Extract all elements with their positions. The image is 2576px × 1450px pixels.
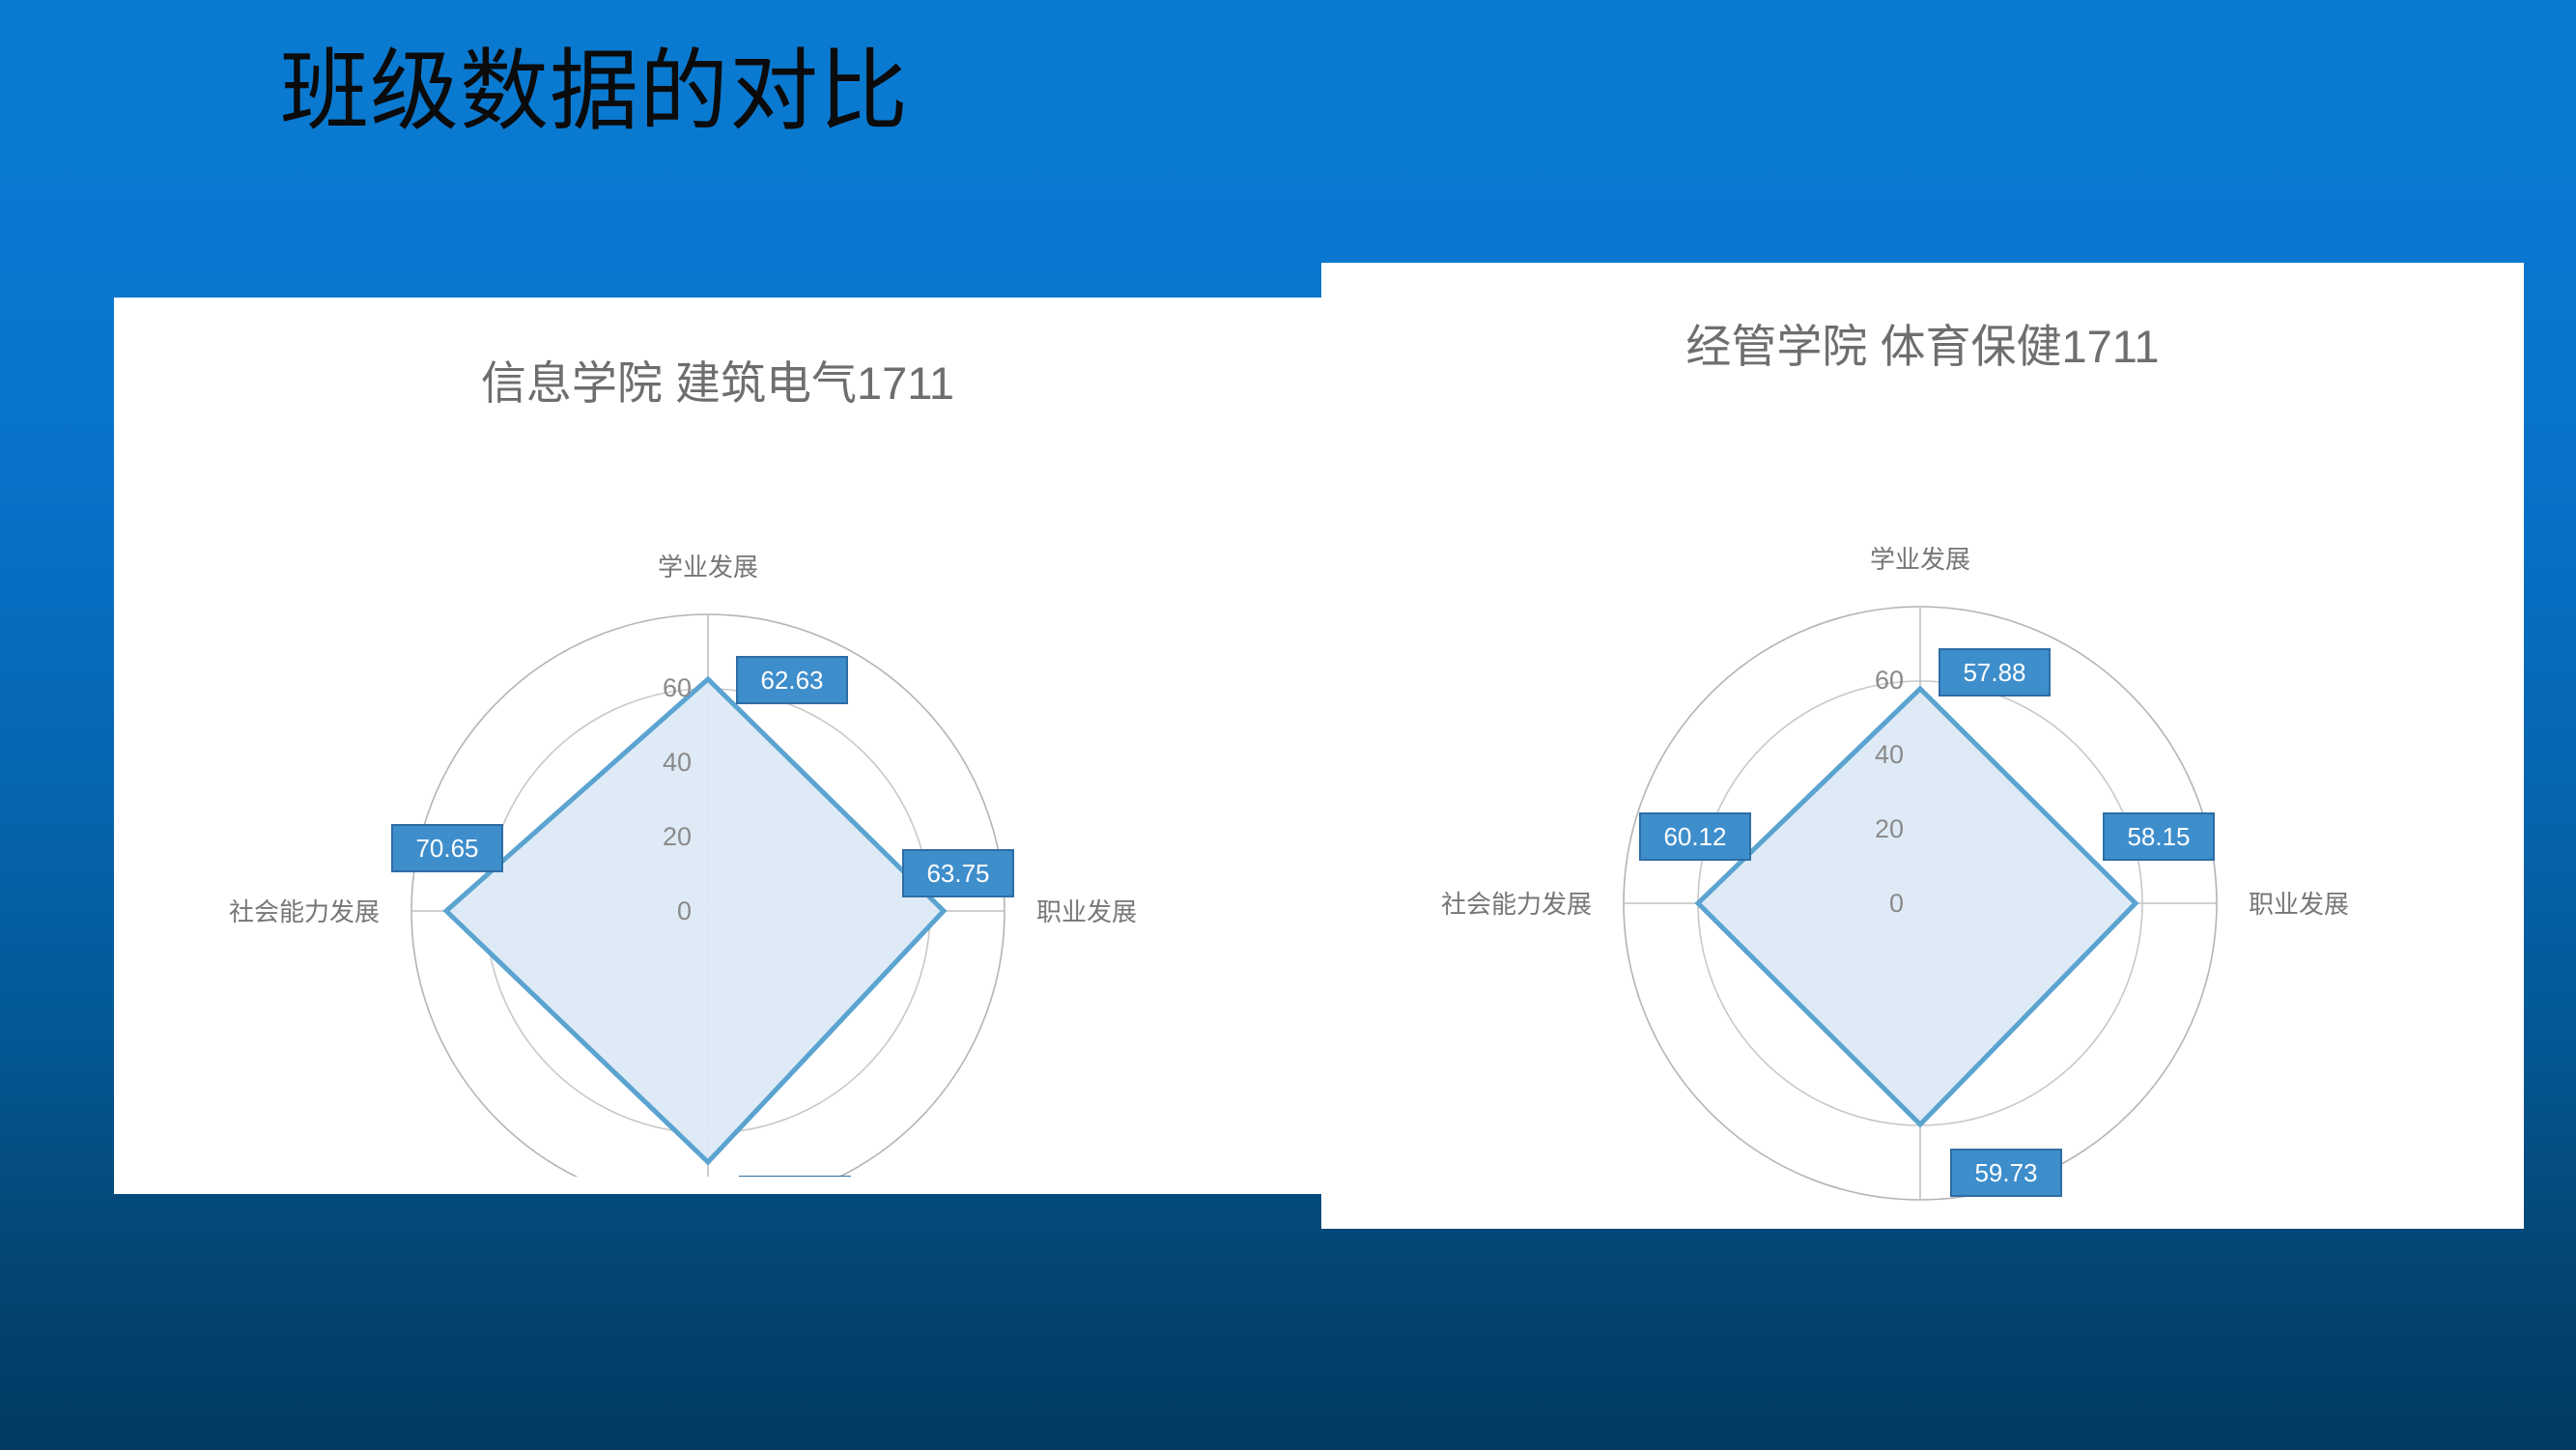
page-title: 班级数据的对比 (280, 43, 909, 141)
data-label-left: 70.65 (392, 825, 502, 871)
data-label-right-text: 58.15 (2127, 822, 2190, 851)
radar-chart-left[interactable]: 60 40 20 0 学业发展 职业发展 个人发展 社会能力发展 62.63 6… (114, 413, 1321, 1177)
axis-label-top: 学业发展 (1870, 545, 1970, 574)
axis-label-right: 职业发展 (2249, 890, 2349, 919)
series-polygon (446, 679, 944, 1162)
data-label-bottom-text: 59.73 (1974, 1158, 2037, 1187)
axis-label-top: 学业发展 (658, 553, 758, 582)
axis-label-right: 职业发展 (1036, 897, 1137, 926)
data-label-top: 62.63 (737, 657, 847, 703)
data-label-left-text: 60.12 (1663, 822, 1726, 851)
data-label-left-text: 70.65 (415, 834, 478, 863)
tick-label-20: 20 (1875, 814, 1904, 843)
radar-chart-right[interactable]: 60 40 20 0 学业发展 职业发展 个人发展 社会能力发展 57.88 5… (1321, 377, 2524, 1208)
tick-label-40: 40 (663, 748, 692, 777)
tick-label-0: 0 (1889, 889, 1904, 918)
data-label-top-text: 57.88 (1963, 658, 2025, 687)
tick-label-20: 20 (663, 822, 692, 851)
data-label-top: 57.88 (1939, 649, 2050, 696)
chart-title-left: 信息学院 建筑电气1711 (114, 346, 1321, 412)
chart-card-right[interactable]: 经管学院 体育保健1711 60 40 20 0 学业发展 职业发展 个人发展 … (1321, 263, 2524, 1229)
radar-svg-left: 60 40 20 0 学业发展 职业发展 个人发展 社会能力发展 62.63 6… (114, 413, 1321, 1177)
tick-label-60: 60 (1875, 666, 1904, 695)
tick-label-60: 60 (663, 673, 692, 702)
data-label-right-text: 63.75 (926, 859, 989, 888)
radar-svg-right: 60 40 20 0 学业发展 职业发展 个人发展 社会能力发展 57.88 5… (1321, 377, 2524, 1208)
data-label-top-text: 62.63 (760, 666, 823, 695)
chart-title-right: 经管学院 体育保健1711 (1321, 309, 2524, 376)
axis-label-left: 社会能力发展 (229, 897, 380, 926)
series-polygon (1698, 689, 2136, 1124)
data-label-right: 63.75 (903, 850, 1013, 896)
data-label-right: 58.15 (2104, 813, 2214, 860)
chart-card-left[interactable]: 信息学院 建筑电气1711 60 40 20 0 学业发展 职业发展 个人发展 … (114, 298, 1321, 1194)
data-label-left: 60.12 (1640, 813, 1750, 860)
tick-label-40: 40 (1875, 740, 1904, 769)
tick-label-0: 0 (677, 896, 692, 925)
axis-label-left: 社会能力发展 (1441, 890, 1592, 919)
data-label-bottom: 59.73 (1951, 1150, 2061, 1196)
